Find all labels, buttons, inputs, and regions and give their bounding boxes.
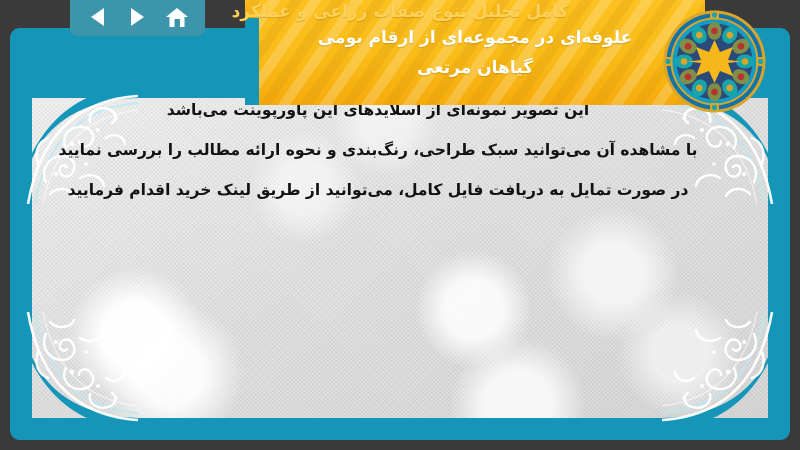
banner-accent-strip: [245, 18, 259, 105]
body-line-3: در صورت تمایل به دریافت فایل کامل، می‌تو…: [50, 170, 706, 210]
home-icon: [165, 6, 189, 29]
navigation-toolbar: [70, 0, 205, 36]
slide-viewer: این تصویر نمونه‌ای از اسلایدهای این پاور…: [0, 0, 800, 450]
back-button[interactable]: [83, 3, 113, 31]
islamic-medallion-icon: [662, 9, 767, 114]
title-line-2: علوفه‌ای در مجموعه‌ای از ارقام بومی: [318, 23, 632, 53]
body-line-2: با مشاهده آن می‌توانید سبک طراحی، رنگ‌بن…: [50, 130, 706, 170]
slide-body-text: این تصویر نمونه‌ای از اسلایدهای این پاور…: [50, 90, 706, 210]
back-arrow-icon: [88, 6, 108, 28]
forward-arrow-icon: [127, 6, 147, 28]
forward-button[interactable]: [122, 3, 152, 31]
home-button[interactable]: [162, 3, 192, 31]
title-line-3: گیاهان مرتعی: [417, 53, 533, 83]
